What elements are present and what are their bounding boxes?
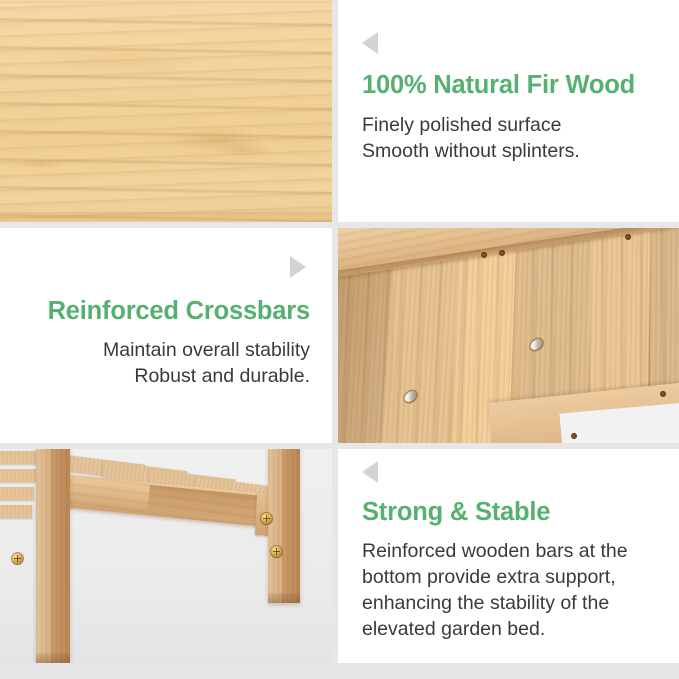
feature-heading-strong-stable: Strong & Stable xyxy=(362,497,628,527)
feature-heading-reinforced-crossbars: Reinforced Crossbars xyxy=(48,296,310,326)
screw-hole xyxy=(625,234,631,240)
grid-divider-vertical xyxy=(332,0,338,663)
feature-panel-reinforced-crossbars: Reinforced Crossbars Maintain overall st… xyxy=(0,228,332,443)
board-bottom-edge xyxy=(0,212,332,222)
brass-screw xyxy=(261,513,272,524)
feature-body-line-1: Finely polished surface xyxy=(362,112,635,138)
leg-foot xyxy=(268,593,300,603)
leg-side-face xyxy=(282,449,300,603)
fir-wood-board-photo xyxy=(0,0,332,222)
triangle-left-icon xyxy=(362,32,378,54)
feature-body-line-1: Reinforced wooden bars at the xyxy=(362,538,628,564)
brass-screw xyxy=(271,546,282,557)
leg-foot xyxy=(36,653,70,663)
board-top-edge xyxy=(0,0,332,3)
feature-body-line-1: Maintain overall stability xyxy=(103,337,310,363)
feature-body-line-2: Robust and durable. xyxy=(134,363,310,389)
bed-leg-left xyxy=(36,449,70,663)
feature-heading-natural-fir-wood: 100% Natural Fir Wood xyxy=(362,70,635,100)
elevated-bed-legs-photo xyxy=(0,449,332,663)
brass-screw xyxy=(12,553,23,564)
screw-hole xyxy=(499,250,505,256)
feature-body-line-2: bottom provide extra support, xyxy=(362,564,628,590)
leg-side-face xyxy=(51,449,70,663)
triangle-right-icon xyxy=(290,256,306,278)
screw-hole xyxy=(571,433,577,439)
feature-panel-natural-fir-wood: 100% Natural Fir Wood Finely polished su… xyxy=(338,0,679,222)
plank-shading xyxy=(338,250,394,443)
product-feature-infographic: 100% Natural Fir Wood Finely polished su… xyxy=(0,0,679,679)
bed-slat xyxy=(0,487,34,500)
screw-hole xyxy=(481,252,487,258)
feature-body-line-2: Smooth without splinters. xyxy=(362,138,635,164)
triangle-left-icon xyxy=(362,461,378,483)
reinforced-crossbar-planks-photo xyxy=(338,228,679,443)
feature-panel-strong-stable: Strong & Stable Reinforced wooden bars a… xyxy=(338,449,679,663)
bed-slat xyxy=(0,469,36,482)
leg-front-face xyxy=(268,449,282,603)
grid-divider-horizontal-bottom xyxy=(0,443,679,449)
bed-leg-right xyxy=(268,449,300,603)
feature-body-line-3: enhancing the stability of the xyxy=(362,590,628,616)
screw-hole xyxy=(660,391,666,397)
bed-slat xyxy=(0,451,38,464)
bed-slat xyxy=(0,505,32,518)
leg-front-face xyxy=(36,449,51,663)
feature-body-line-4: elevated garden bed. xyxy=(362,616,628,642)
grid-divider-horizontal-top xyxy=(0,222,679,228)
